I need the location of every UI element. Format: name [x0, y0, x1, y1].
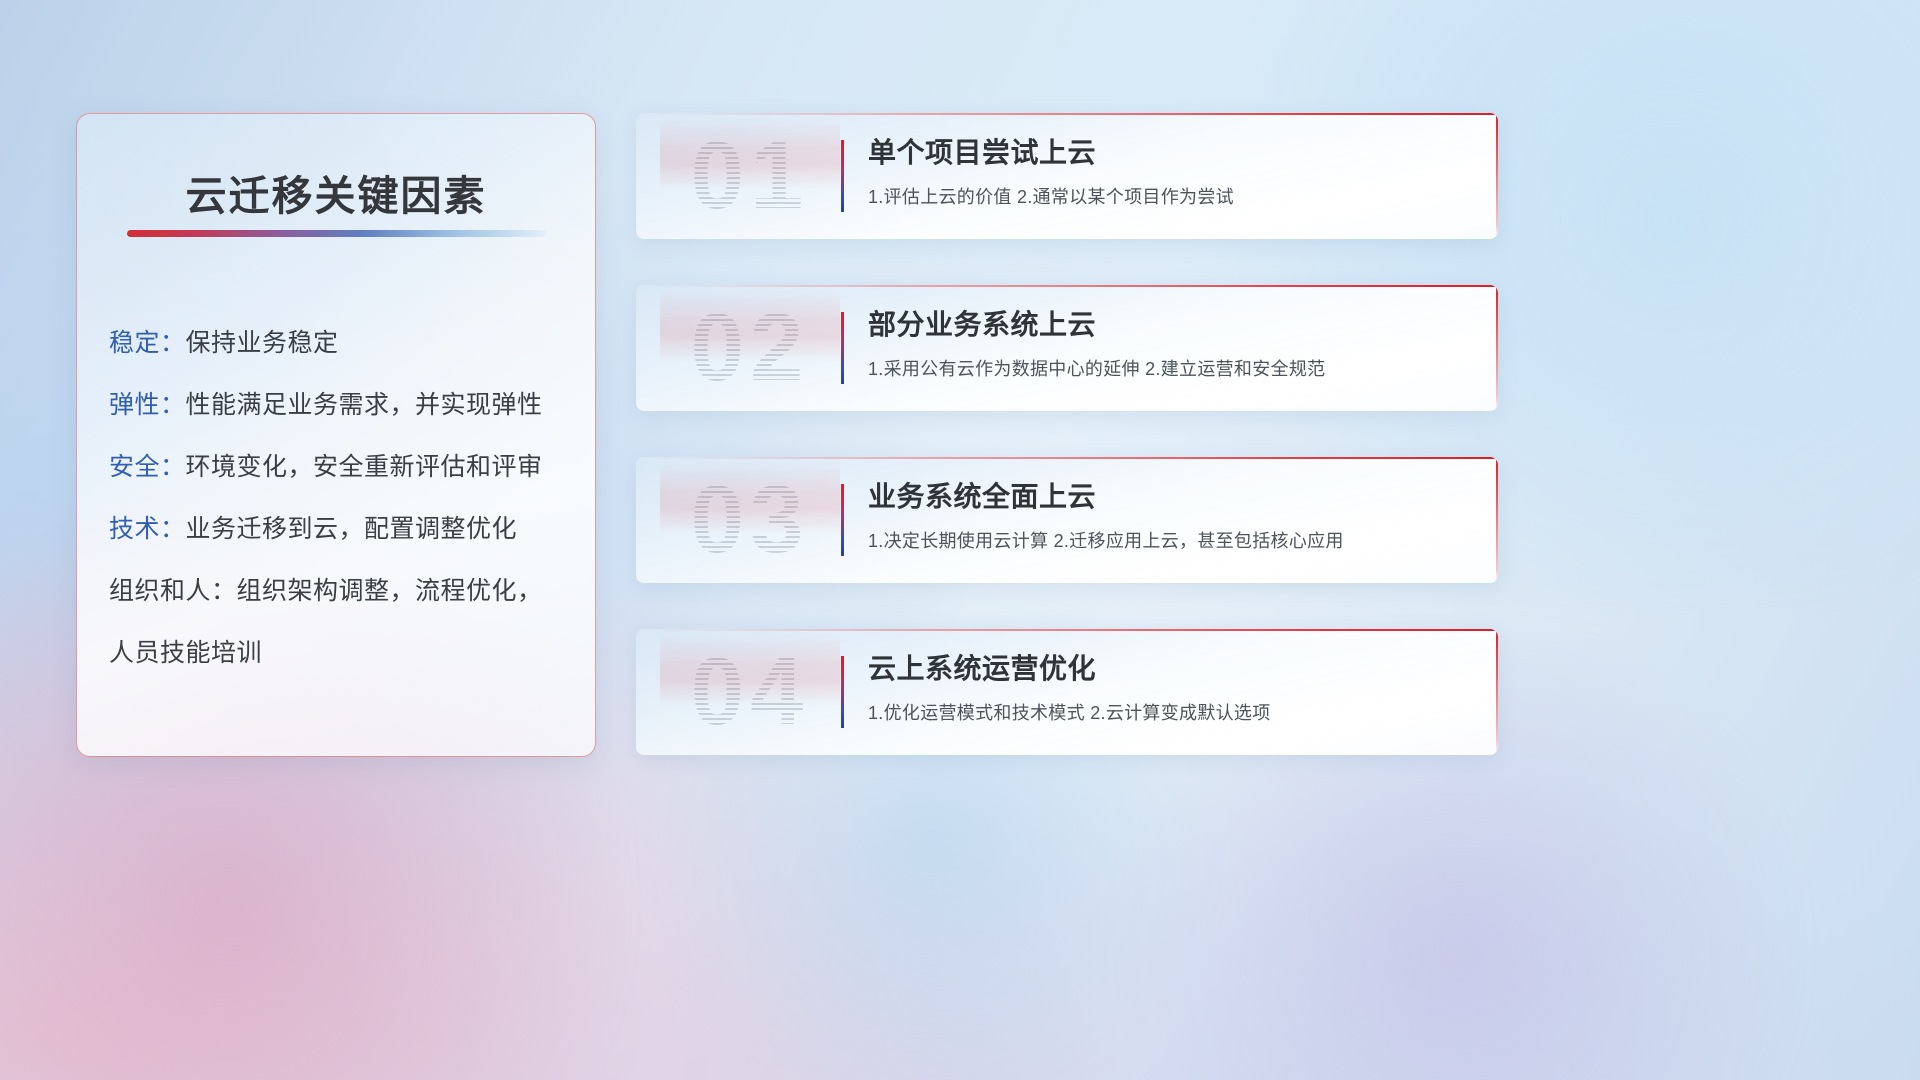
card-description: 1.采用公有云作为数据中心的延伸 2.建立运营和安全规范 [868, 357, 1476, 381]
list-item-key: 弹性： [109, 391, 186, 419]
card-number-watermark: 04 [660, 633, 840, 751]
card-number-tint [660, 633, 840, 751]
card-top-accent-line [636, 113, 1498, 115]
card-body: 云上系统运营优化 1.优化运营模式和技术模式 2.云计算变成默认选项 [868, 651, 1476, 725]
card-number-watermark: 01 [660, 117, 840, 235]
list-item-key: 稳定： [109, 329, 186, 357]
card-top-accent-line [636, 457, 1498, 459]
stage-card[interactable]: 04 云上系统运营优化 1.优化运营模式和技术模式 2.云计算变成默认选项 [636, 629, 1498, 755]
card-right-accent-line [1496, 629, 1498, 755]
card-title: 部分业务系统上云 [868, 307, 1476, 343]
card-number-tint [660, 117, 840, 235]
list-item: 稳定：保持业务稳定 [109, 312, 575, 374]
card-right-accent-line [1496, 285, 1498, 411]
card-right-accent-line [1496, 113, 1498, 239]
list-item-key: 组织和人： [109, 577, 237, 605]
stage-card[interactable]: 03 业务系统全面上云 1.决定长期使用云计算 2.迁移应用上云，甚至包括核心应… [636, 457, 1498, 583]
stage-card[interactable]: 02 部分业务系统上云 1.采用公有云作为数据中心的延伸 2.建立运营和安全规范 [636, 285, 1498, 411]
list-item: 技术：业务迁移到云，配置调整优化 [109, 498, 575, 560]
card-number-watermark: 03 [660, 461, 840, 579]
list-item-text: 人员技能培训 [109, 639, 262, 667]
card-body: 部分业务系统上云 1.采用公有云作为数据中心的延伸 2.建立运营和安全规范 [868, 307, 1476, 381]
card-right-accent-line [1496, 457, 1498, 583]
card-description: 1.评估上云的价值 2.通常以某个项目作为尝试 [868, 185, 1476, 209]
key-factors-list: 稳定：保持业务稳定 弹性：性能满足业务需求，并实现弹性 安全：环境变化，安全重新… [109, 312, 575, 684]
list-item-text: 业务迁移到云，配置调整优化 [186, 515, 518, 543]
card-title: 业务系统全面上云 [868, 479, 1476, 515]
card-description: 1.决定长期使用云计算 2.迁移应用上云，甚至包括核心应用 [868, 529, 1476, 553]
card-top-accent-line [636, 285, 1498, 287]
panel-title: 云迁移关键因素 [77, 162, 595, 222]
card-title: 单个项目尝试上云 [868, 135, 1476, 171]
list-item-key: 安全： [109, 453, 186, 481]
list-item-continuation: 人员技能培训 [109, 622, 575, 684]
stage-card-list: 01 单个项目尝试上云 1.评估上云的价值 2.通常以某个项目作为尝试 02 部… [636, 113, 1498, 801]
list-item: 安全：环境变化，安全重新评估和评审 [109, 436, 575, 498]
list-item: 组织和人：组织架构调整，流程优化， [109, 560, 575, 622]
stage-card[interactable]: 01 单个项目尝试上云 1.评估上云的价值 2.通常以某个项目作为尝试 [636, 113, 1498, 239]
list-item-text: 环境变化，安全重新评估和评审 [186, 453, 543, 481]
list-item-key: 技术： [109, 515, 186, 543]
card-body: 业务系统全面上云 1.决定长期使用云计算 2.迁移应用上云，甚至包括核心应用 [868, 479, 1476, 553]
card-number-watermark: 02 [660, 289, 840, 407]
card-divider-bar [841, 312, 844, 384]
list-item-text: 性能满足业务需求，并实现弹性 [186, 391, 543, 419]
list-item-text: 保持业务稳定 [186, 329, 339, 357]
card-top-accent-line [636, 629, 1498, 631]
card-number-tint [660, 289, 840, 407]
slide-root: 云迁移关键因素 稳定：保持业务稳定 弹性：性能满足业务需求，并实现弹性 安全：环… [0, 0, 1920, 1080]
card-divider-bar [841, 656, 844, 728]
card-description: 1.优化运营模式和技术模式 2.云计算变成默认选项 [868, 701, 1476, 725]
title-underline-gradient [127, 230, 547, 237]
card-number-tint [660, 461, 840, 579]
key-factors-panel: 云迁移关键因素 稳定：保持业务稳定 弹性：性能满足业务需求，并实现弹性 安全：环… [76, 113, 596, 757]
card-body: 单个项目尝试上云 1.评估上云的价值 2.通常以某个项目作为尝试 [868, 135, 1476, 209]
card-divider-bar [841, 140, 844, 212]
card-divider-bar [841, 484, 844, 556]
list-item: 弹性：性能满足业务需求，并实现弹性 [109, 374, 575, 436]
card-title: 云上系统运营优化 [868, 651, 1476, 687]
list-item-text: 组织架构调整，流程优化， [237, 577, 543, 605]
